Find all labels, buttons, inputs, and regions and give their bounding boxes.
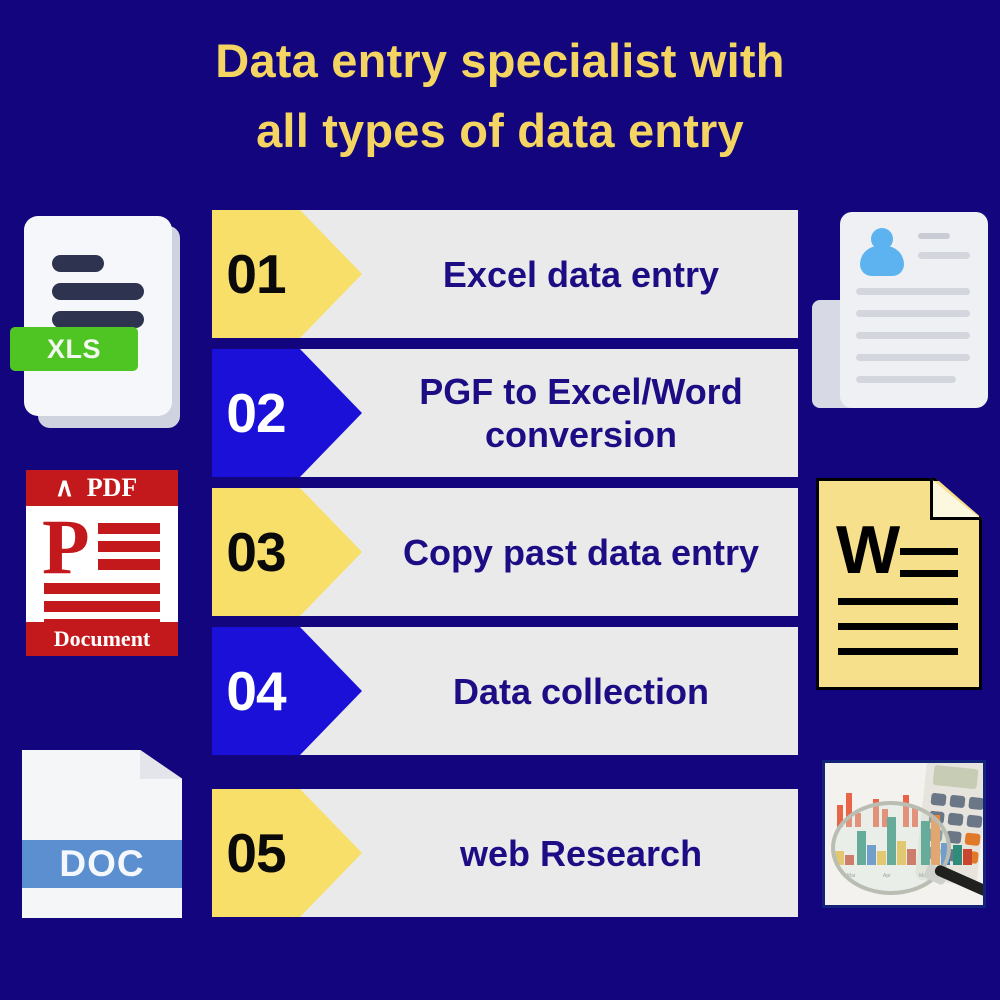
magnifier-bar-chart-photo: Mar Apr May [822, 760, 986, 908]
pdf-bar [44, 583, 160, 594]
word-line [900, 548, 958, 555]
arrow-head-icon [300, 349, 362, 477]
text-line [52, 311, 144, 328]
number-tag-02: 02 [212, 349, 300, 477]
text-line [856, 310, 970, 317]
service-row-01[interactable]: 01 Excel data entry [212, 210, 798, 338]
adobe-logo-icon: ∧ [35, 476, 77, 500]
service-label-05: web Research [300, 832, 798, 875]
text-line [52, 283, 144, 300]
number-label: 03 [226, 520, 285, 584]
service-row-05[interactable]: 05 web Research [212, 789, 798, 917]
calculator-key [968, 797, 984, 811]
calculator-key [965, 833, 981, 847]
xls-badge: XLS [10, 327, 138, 371]
doc-band: DOC [22, 840, 182, 888]
calculator-key [930, 793, 946, 807]
avatar-body [860, 246, 904, 276]
chart-bar [963, 849, 972, 865]
word-line [900, 570, 958, 577]
number-tag-04: 04 [212, 627, 300, 755]
pdf-footer: Document [26, 622, 178, 656]
pdf-bar [98, 541, 160, 552]
arrow-head-icon [300, 789, 362, 917]
service-list: 01 Excel data entry 02 PGF to Excel/Word… [212, 210, 798, 928]
calculator-key [949, 795, 965, 809]
number-tag-01: 01 [212, 210, 300, 338]
xls-spreadsheet-icon: XLS [18, 210, 182, 428]
xls-badge-label: XLS [47, 334, 101, 365]
word-line [838, 648, 958, 655]
resume-profile-icon [812, 212, 988, 416]
word-document-icon: W [816, 478, 982, 690]
number-tag-03: 03 [212, 488, 300, 616]
arrow-head-icon [300, 627, 362, 755]
doc-band-label: DOC [59, 843, 144, 885]
service-label-02: PGF to Excel/Word conversion [300, 370, 798, 456]
doc-file-icon: DOC [22, 750, 182, 918]
service-label-01: Excel data entry [300, 253, 798, 296]
word-letter: W [836, 516, 900, 584]
pdf-bar [98, 559, 160, 570]
calculator-key [947, 813, 963, 827]
word-line [838, 623, 958, 630]
text-line [918, 233, 950, 239]
number-label: 01 [226, 242, 285, 306]
pdf-document-icon: ∧ PDF P Document [26, 470, 178, 656]
chart-bar [953, 845, 962, 865]
service-label-04: Data collection [300, 670, 798, 713]
service-row-02[interactable]: 02 PGF to Excel/Word conversion [212, 349, 798, 477]
number-label: 02 [226, 381, 285, 445]
pdf-header: ∧ PDF [26, 470, 178, 506]
pdf-header-label: PDF [67, 473, 138, 503]
text-line [52, 255, 104, 272]
calculator-key [966, 815, 982, 829]
pdf-bar [44, 601, 160, 612]
number-label: 04 [226, 659, 285, 723]
text-line [918, 252, 970, 259]
text-line [856, 376, 956, 383]
calculator-screen [933, 765, 979, 789]
arrow-head-icon [300, 210, 362, 338]
service-label-03: Copy past data entry [300, 531, 798, 574]
text-line [856, 288, 970, 295]
text-line [856, 332, 970, 339]
word-line [838, 598, 958, 605]
pdf-letter: P [42, 508, 90, 586]
title-line-2: all types of data entry [0, 96, 1000, 166]
service-row-04[interactable]: 04 Data collection [212, 627, 798, 755]
number-tag-05: 05 [212, 789, 300, 917]
avatar [858, 228, 906, 276]
text-line [856, 354, 970, 361]
service-row-03[interactable]: 03 Copy past data entry [212, 488, 798, 616]
arrow-head-icon [300, 488, 362, 616]
pdf-footer-label: Document [54, 626, 151, 652]
number-label: 05 [226, 821, 285, 885]
pdf-bar [98, 523, 160, 534]
page-title: Data entry specialist with all types of … [0, 26, 1000, 166]
title-line-1: Data entry specialist with [0, 26, 1000, 96]
resume-front-page [840, 212, 988, 408]
